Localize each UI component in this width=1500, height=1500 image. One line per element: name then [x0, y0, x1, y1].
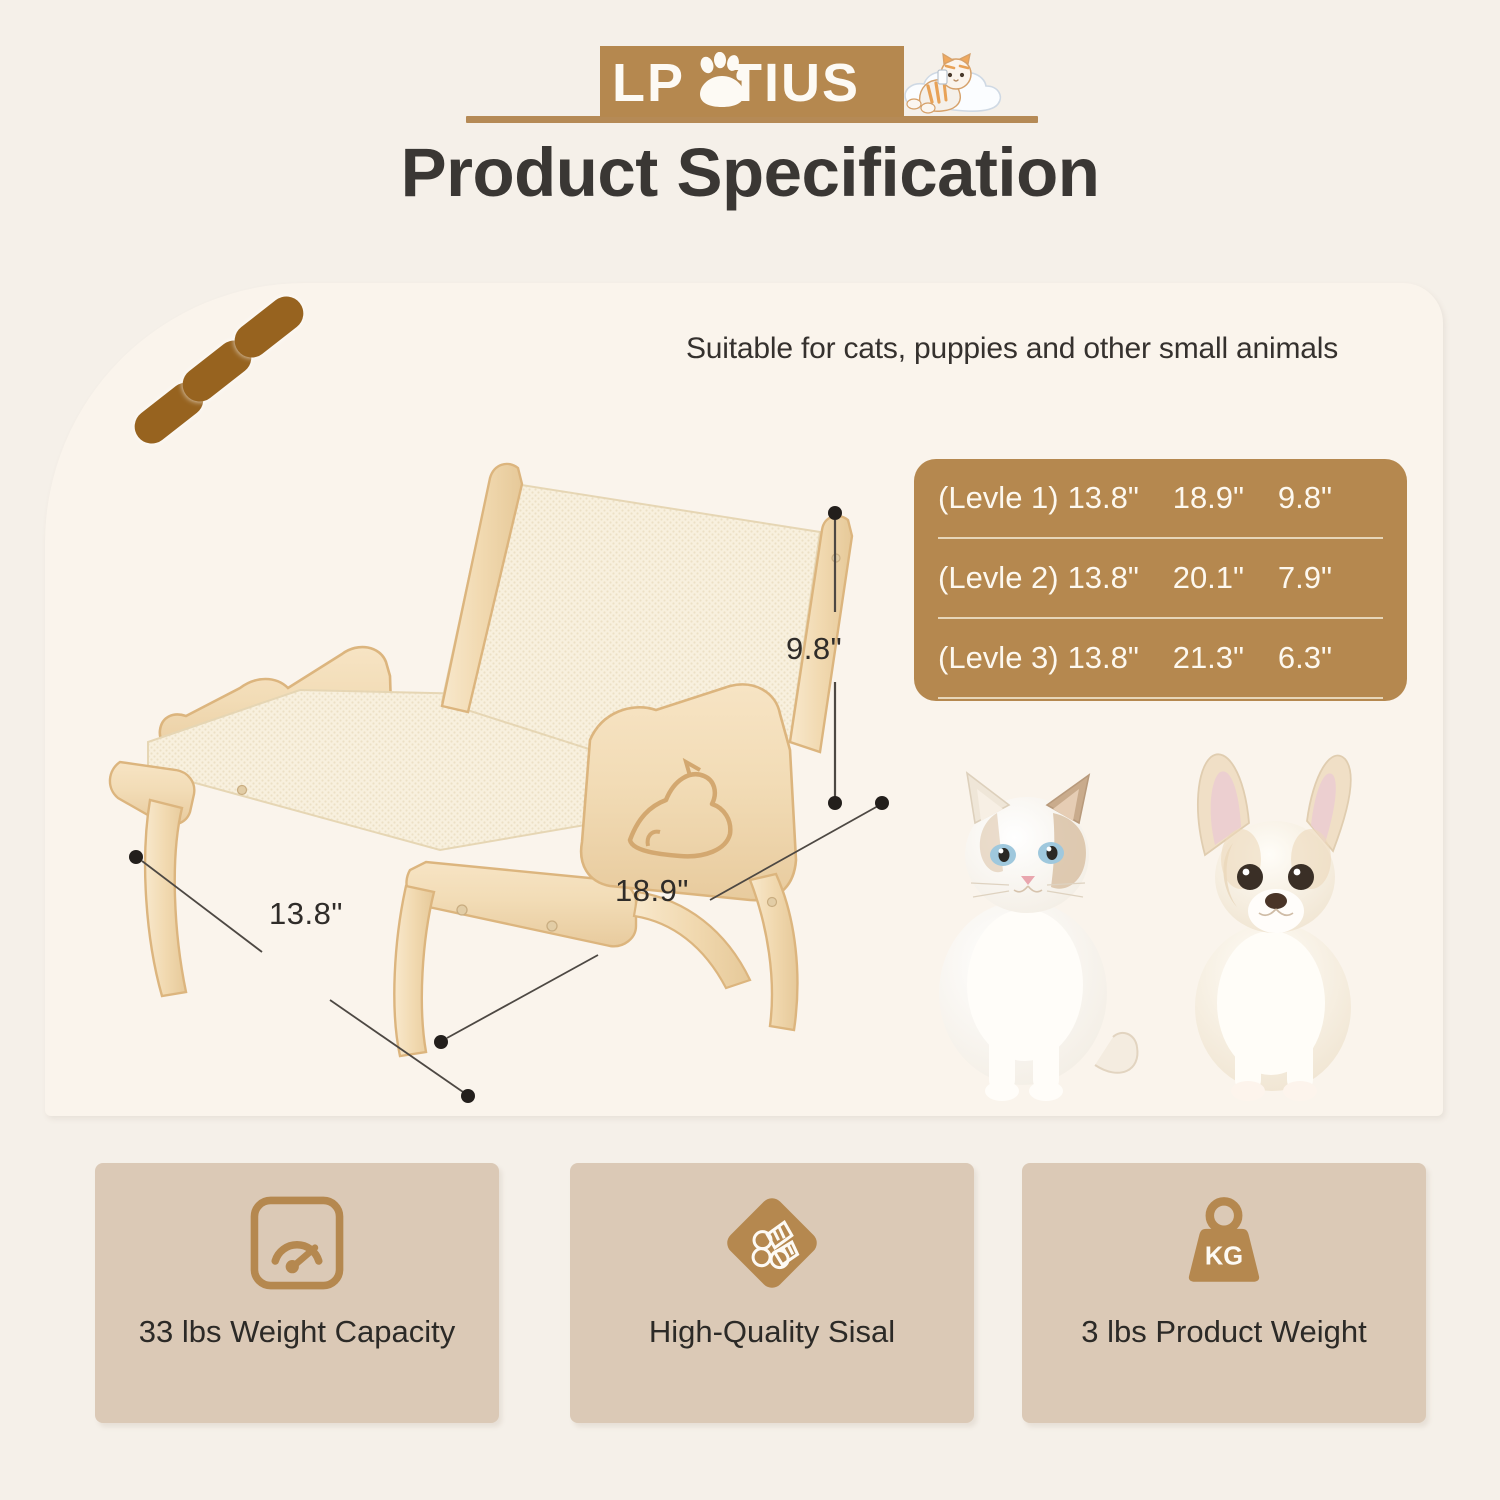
level-depth: 18.9"	[1173, 480, 1278, 516]
level-width: 13.8"	[1068, 640, 1173, 676]
feature-label: 33 lbs Weight Capacity	[103, 1311, 491, 1352]
level-label: (Levle 2)	[938, 560, 1068, 596]
level-depth: 20.1"	[1173, 560, 1278, 596]
product-image	[90, 440, 880, 1060]
main-subtitle: Suitable for cats, puppies and other sma…	[686, 332, 1416, 366]
cartoon-cat-on-cloud-icon	[884, 42, 1016, 124]
svg-text:KG: KG	[1205, 1243, 1243, 1271]
feature-label: High-Quality Sisal	[578, 1311, 966, 1352]
level-depth: 21.3"	[1173, 640, 1278, 676]
level-height: 7.9"	[1278, 560, 1383, 596]
feature-card-weight-capacity: 33 lbs Weight Capacity	[95, 1163, 499, 1423]
feature-card-product-weight: KG 3 lbs Product Weight	[1022, 1163, 1426, 1423]
level-width: 13.8"	[1068, 560, 1173, 596]
feature-boxes: 33 lbs Weight Capacity High-Quality Sisa	[0, 1163, 1500, 1433]
table-row: (Levle 1) 13.8" 18.9" 9.8"	[938, 459, 1383, 539]
infographic-root: LPOTIUS Product Specification	[0, 0, 1500, 1500]
feature-card-sisal: High-Quality Sisal	[570, 1163, 974, 1423]
brand-name-text: LPOTIUS	[612, 54, 902, 112]
kg-weight-icon: KG	[1022, 1187, 1426, 1299]
pets-image	[905, 735, 1415, 1105]
table-row: (Levle 3) 13.8" 21.3" 6.3"	[938, 619, 1383, 699]
dimension-width-label: 13.8"	[269, 896, 343, 932]
dog-photo	[1195, 754, 1351, 1101]
level-label: (Levle 1)	[938, 480, 1068, 516]
paw-dash-3	[228, 290, 310, 365]
paw-toe-dashes-icon	[120, 296, 320, 456]
weight-gauge-icon	[95, 1187, 499, 1299]
paw-print-icon	[694, 52, 750, 112]
dimension-height-label: 9.8"	[786, 631, 842, 667]
table-row: (Levle 2) 13.8" 20.1" 7.9"	[938, 539, 1383, 619]
level-width: 13.8"	[1068, 480, 1173, 516]
dimension-depth-label: 18.9"	[615, 873, 689, 909]
page-title: Product Specification	[0, 133, 1500, 212]
level-height: 9.8"	[1278, 480, 1383, 516]
cat-photo	[939, 773, 1137, 1101]
specification-table: (Levle 1) 13.8" 18.9" 9.8" (Levle 2) 13.…	[914, 459, 1407, 701]
level-height: 6.3"	[1278, 640, 1383, 676]
brand-name-part-lp: LP	[612, 53, 685, 113]
level-label: (Levle 3)	[938, 640, 1068, 676]
sisal-rope-bundle-icon	[570, 1187, 974, 1299]
feature-label: 3 lbs Product Weight	[1030, 1311, 1418, 1352]
